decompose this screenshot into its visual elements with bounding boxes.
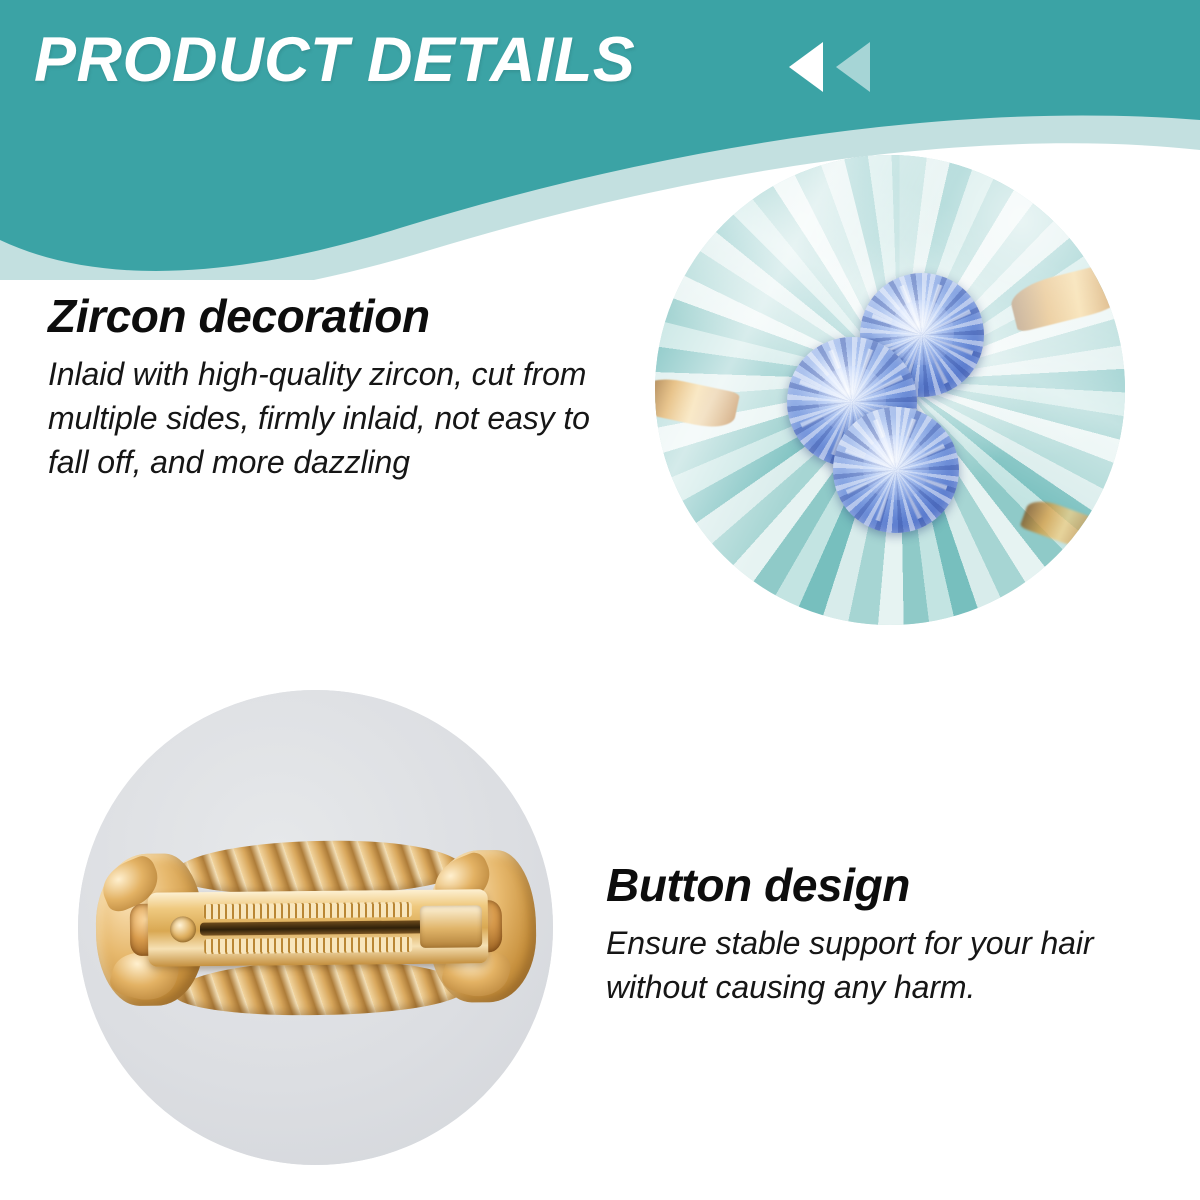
page-title: PRODUCT DETAILS — [34, 22, 635, 98]
feature-heading-button: Button design — [606, 857, 1126, 913]
zircon-macro-photo — [655, 155, 1125, 625]
feature-body-zircon: Inlaid with high-quality zircon, cut fro… — [48, 352, 618, 484]
gem-table-facet — [890, 300, 954, 364]
gem-table-facet — [863, 435, 929, 501]
feature-block-zircon-decoration: Zircon decoration Inlaid with high-quali… — [48, 288, 618, 484]
clip-hinge — [419, 905, 481, 948]
clip-center-slot — [199, 920, 423, 935]
filigree-leaf-band-top — [173, 839, 464, 896]
barrette-clip-bar — [147, 889, 488, 967]
zircon-gem-bottom — [833, 407, 959, 533]
clip-teeth-top — [203, 901, 411, 918]
feature-heading-zircon: Zircon decoration — [48, 288, 618, 344]
hair-clip-assembly — [95, 840, 537, 1015]
clip-teeth-bottom — [204, 936, 412, 953]
clip-rosette-detail — [169, 916, 195, 942]
feature-body-button: Ensure stable support for your hair with… — [606, 921, 1126, 1009]
header-arrow-group — [789, 42, 870, 92]
hair-clip-photo — [78, 690, 553, 1165]
product-details-page: PRODUCT DETAILS Zircon decoration Inlaid… — [0, 0, 1200, 1200]
feature-block-button-design: Button design Ensure stable support for … — [606, 857, 1126, 1009]
arrow-left-ghost-icon — [836, 42, 870, 92]
zircon-scene — [655, 155, 1125, 625]
arrow-left-solid-icon — [789, 42, 823, 92]
